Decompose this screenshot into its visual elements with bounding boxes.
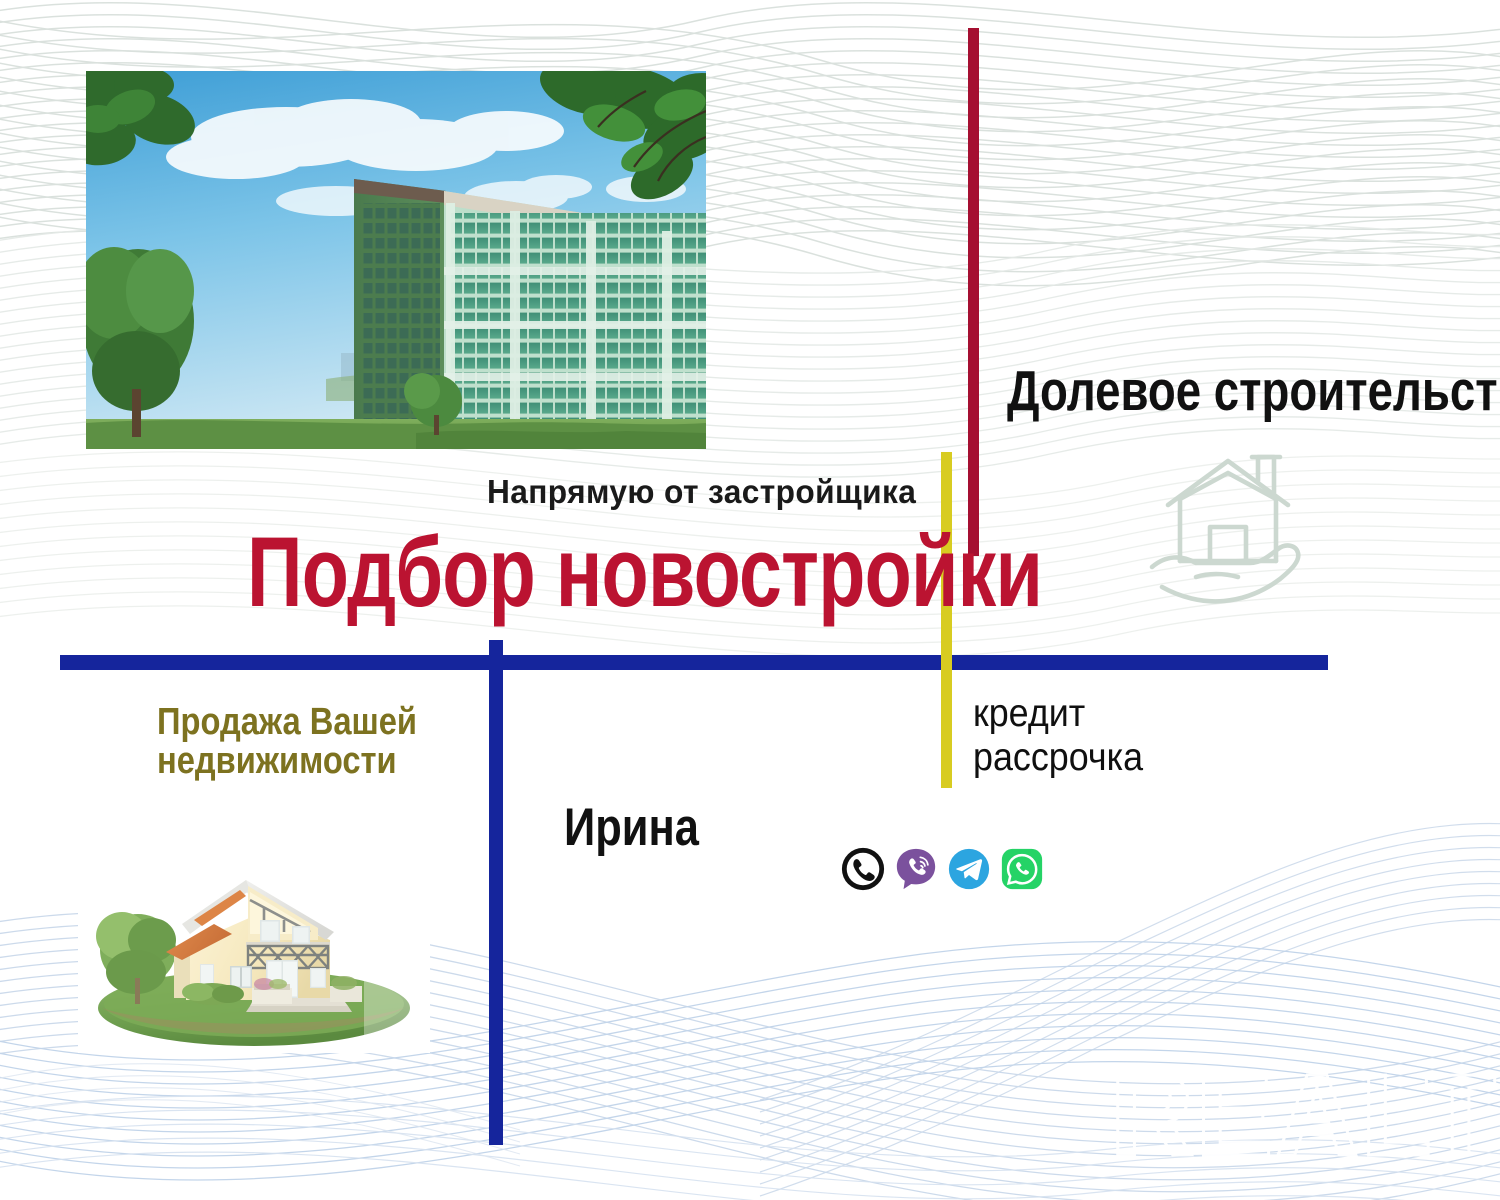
divider-horizontal-blue	[60, 655, 1328, 670]
realt-watermark: REALT	[1110, 1048, 1498, 1182]
heading-shared-construction: Долевое строительство	[1007, 358, 1500, 424]
cottage-house-photo	[78, 828, 430, 1053]
new-building-photo	[86, 71, 706, 449]
tagline-direct-from-developer: Напрямую от застройщика	[487, 473, 916, 511]
phone-icon[interactable]	[840, 846, 886, 892]
house-in-hand-icon	[1146, 443, 1318, 615]
finance-options: кредит рассрочка	[973, 692, 1267, 779]
contact-icons-row	[840, 846, 1045, 892]
divider-vertical-blue	[489, 640, 503, 1145]
banner-canvas: REALT	[0, 0, 1500, 1200]
heading-sell-your-property: Продажа Вашей недвижимости	[157, 703, 441, 781]
finance-option-credit: кредит	[973, 692, 1267, 736]
agent-name: Ирина	[564, 797, 699, 858]
divider-vertical-red	[968, 28, 979, 556]
finance-option-installment: рассрочка	[973, 736, 1267, 780]
telegram-icon[interactable]	[946, 846, 992, 892]
whatsapp-icon[interactable]	[999, 846, 1045, 892]
viber-icon[interactable]	[893, 846, 939, 892]
page-title: Подбор новостройки	[247, 523, 1042, 620]
